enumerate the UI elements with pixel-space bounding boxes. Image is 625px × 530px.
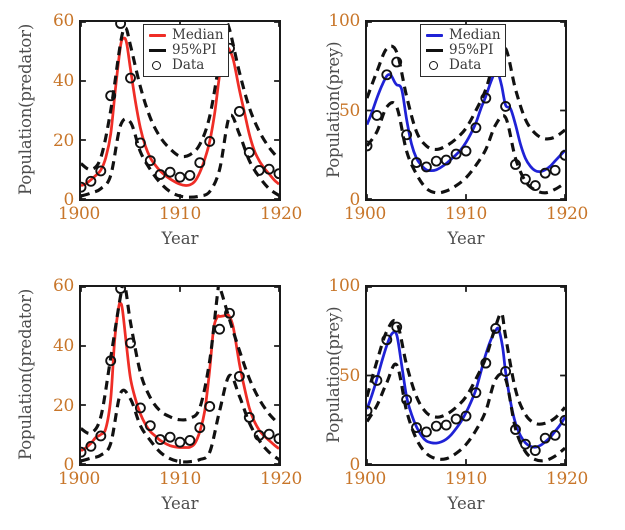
xtick-top-left-1: 1910: [150, 204, 210, 224]
figure-root: Population(predator) 60 40 20 0 Median 9…: [0, 0, 625, 530]
legend-row-data: Data: [425, 58, 500, 73]
legend-row-pi: 95%PI: [425, 43, 500, 58]
plot-svg-bottom-right: [367, 287, 565, 464]
xtick-bottom-right-2: 1920: [537, 469, 597, 489]
interval-line-icon: [148, 43, 167, 58]
ytick-top-left-1: 20: [36, 131, 74, 151]
legend-row-data: Data: [148, 58, 223, 73]
interval-line-icon: [425, 43, 444, 58]
legend-row-median: Median: [425, 28, 500, 43]
legend-label-pi: 95%PI: [449, 43, 493, 58]
data-marker-icon: [148, 58, 167, 73]
xtick-top-left-2: 1920: [251, 204, 311, 224]
legend-row-median: Median: [148, 28, 223, 43]
ytick-bottom-left-2: 40: [36, 336, 74, 356]
panel-top-left: Population(predator) 60 40 20 0 Median 9…: [0, 0, 312, 265]
xtick-bottom-left-0: 1900: [49, 469, 109, 489]
plot-svg-bottom-left: [81, 287, 279, 464]
panel-bottom-left: Population(predator) 60 40 20 0 1900 191…: [0, 265, 312, 530]
ytick-bottom-right-1: 50: [320, 366, 360, 386]
ytick-bottom-right-2: 100: [320, 276, 360, 296]
xtick-bottom-left-1: 1910: [150, 469, 210, 489]
xtick-top-left-0: 1900: [49, 204, 109, 224]
ytick-top-left-3: 60: [36, 11, 74, 31]
axis-label-x-bottom-right: Year: [365, 494, 567, 513]
xtick-bottom-left-2: 1920: [251, 469, 311, 489]
xtick-bottom-right-0: 1900: [335, 469, 395, 489]
panel-top-right: Population(prey) 100 50 0 Median 95%PI D…: [312, 0, 625, 265]
axis-label-x-top-right: Year: [365, 229, 567, 248]
legend-label-median: Median: [449, 28, 501, 43]
panel-bottom-right: Population(prey) 100 50 0 1900 1910 1920…: [312, 265, 625, 530]
axis-label-y-top-left: Population(predator): [16, 24, 35, 195]
xtick-bottom-right-1: 1910: [436, 469, 496, 489]
ytick-top-right-2: 100: [320, 11, 360, 31]
axis-label-x-top-left: Year: [79, 229, 281, 248]
ytick-bottom-left-1: 20: [36, 396, 74, 416]
ytick-top-left-2: 40: [36, 71, 74, 91]
ytick-bottom-left-3: 60: [36, 276, 74, 296]
legend-label-median: Median: [172, 28, 224, 43]
plot-area-bottom-right: [365, 285, 567, 466]
legend-label-pi: 95%PI: [172, 43, 216, 58]
legend-label-data: Data: [449, 58, 481, 73]
median-line-icon: [148, 28, 167, 43]
xtick-top-right-0: 1900: [335, 204, 395, 224]
median-line-icon: [425, 28, 444, 43]
legend-row-pi: 95%PI: [148, 43, 223, 58]
xtick-top-right-1: 1910: [436, 204, 496, 224]
axis-label-y-bottom-left: Population(predator): [16, 289, 35, 460]
data-marker-icon: [425, 58, 444, 73]
xtick-top-right-2: 1920: [537, 204, 597, 224]
ytick-top-right-1: 50: [320, 101, 360, 121]
legend-top-right: Median 95%PI Data: [420, 24, 506, 77]
legend-label-data: Data: [172, 58, 204, 73]
legend-top-left: Median 95%PI Data: [143, 24, 229, 77]
axis-label-x-bottom-left: Year: [79, 494, 281, 513]
plot-area-bottom-left: [79, 285, 281, 466]
